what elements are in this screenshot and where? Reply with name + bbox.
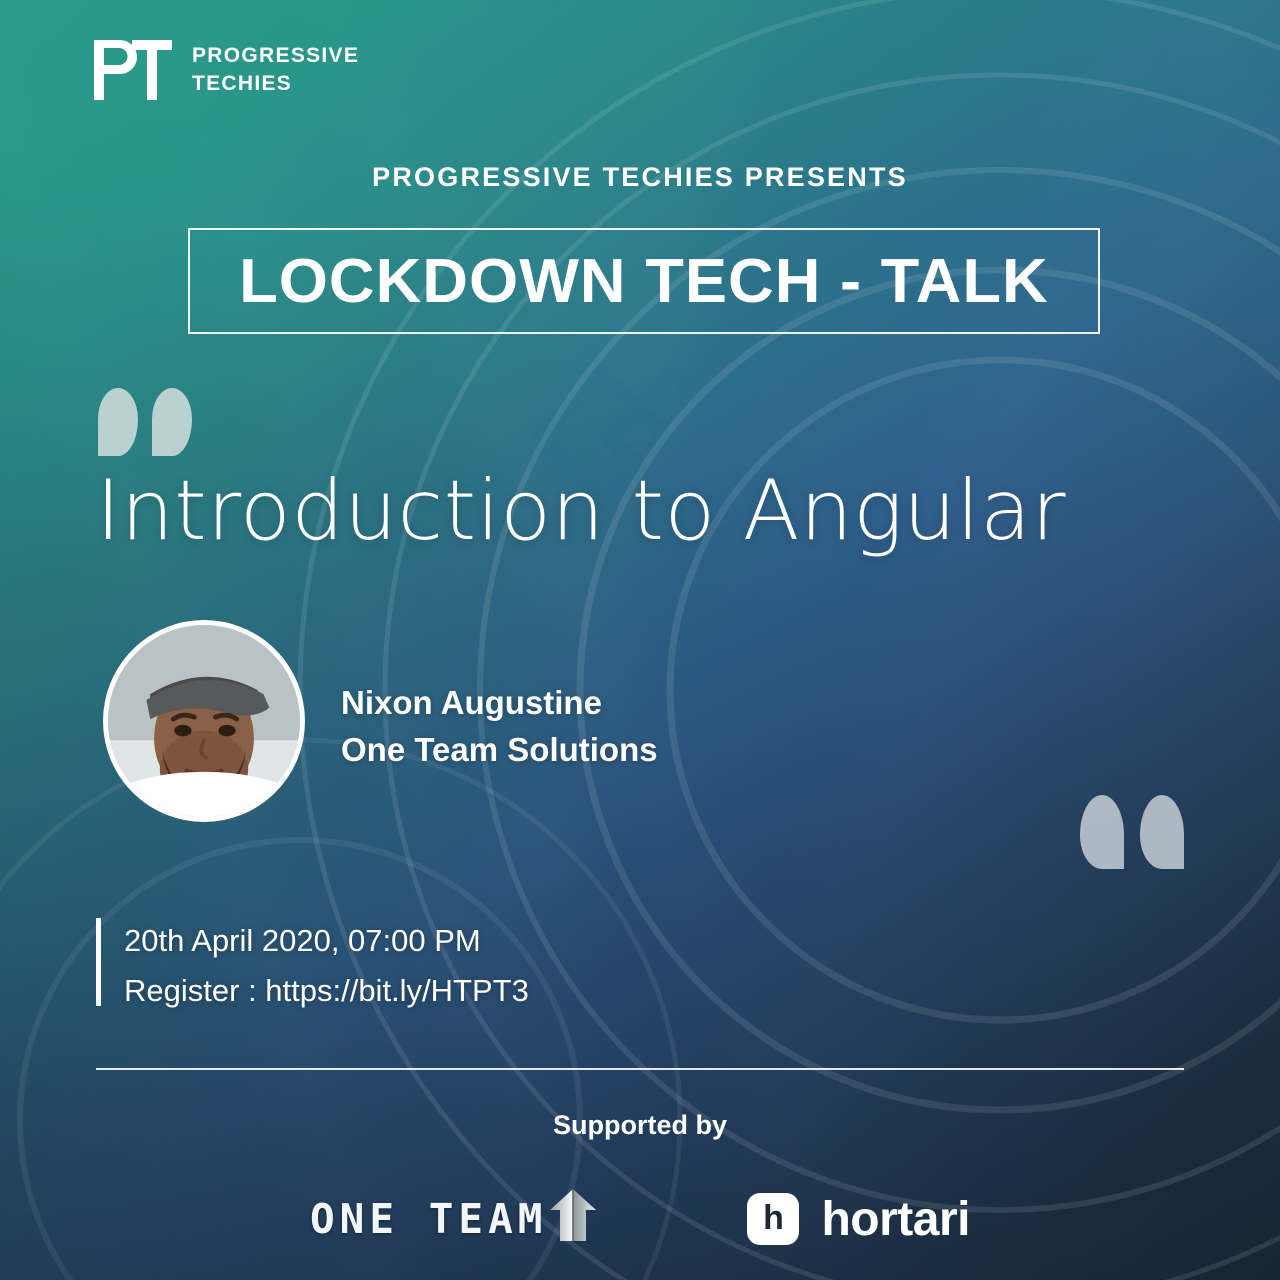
pt-monogram-icon (92, 38, 174, 102)
presents-line: PROGRESSIVE TECHIES PRESENTS (0, 162, 1280, 193)
event-register-link[interactable]: Register : https://bit.ly/HTPT3 (124, 966, 529, 1016)
upward-arrow-icon (549, 1188, 597, 1242)
speaker-portrait-image (108, 625, 300, 817)
one-team-wordmark: ONE TEAM (310, 1195, 547, 1243)
event-poster: PROGRESSIVE TECHIES PROGRESSIVE TECHIES … (0, 0, 1280, 1280)
supported-by-label: Supported by (0, 1110, 1280, 1141)
quote-open-icon (98, 388, 192, 456)
sponsor-hortari[interactable]: h hortari (747, 1192, 970, 1247)
brand-logo: PROGRESSIVE TECHIES (92, 38, 359, 102)
brand-logo-line2: TECHIES (192, 70, 359, 98)
hortari-badge-icon: h (747, 1193, 799, 1245)
talk-title: Introduction to Angular (96, 462, 1066, 559)
hortari-wordmark: hortari (821, 1192, 970, 1247)
brand-logo-wordmark: PROGRESSIVE TECHIES (192, 42, 359, 97)
speaker-avatar (103, 620, 305, 822)
brand-logo-line1: PROGRESSIVE (192, 42, 359, 70)
speaker-name: Nixon Augustine (341, 680, 658, 727)
footer-divider (96, 1068, 1184, 1070)
headline-text: LOCKDOWN TECH - TALK (239, 246, 1049, 317)
speaker-details: Nixon Augustine One Team Solutions (341, 680, 658, 774)
sponsor-logos: ONE TEAM h hortari (0, 1188, 1280, 1250)
event-datetime: 20th April 2020, 07:00 PM (124, 916, 529, 966)
quote-close-icon (1080, 795, 1184, 869)
event-details: 20th April 2020, 07:00 PM Register : htt… (124, 916, 529, 1016)
headline-box: LOCKDOWN TECH - TALK (188, 228, 1100, 334)
event-accent-bar (96, 918, 101, 1006)
speaker-organization: One Team Solutions (341, 727, 658, 774)
sponsor-one-team[interactable]: ONE TEAM (310, 1188, 597, 1250)
